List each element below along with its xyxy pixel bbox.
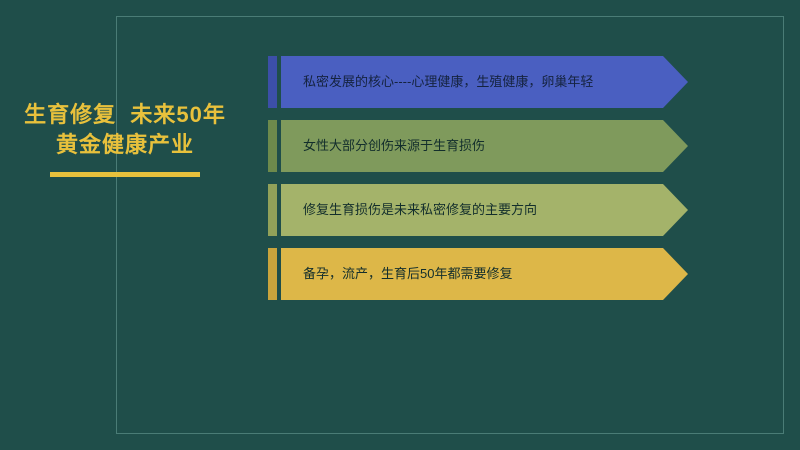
arrow-cap [268,248,277,300]
arrow-body: 备孕，流产，生育后50年都需要修复 [281,248,688,300]
arrow-body: 修复生育损伤是未来私密修复的主要方向 [281,184,688,236]
arrow-cap-shape [268,248,277,300]
arrow-cap [268,184,277,236]
slide-canvas: 生育修复 未来50年黄金健康产业 私密发展的核心----心理健康，生殖健康，卵巢… [0,0,800,450]
arrow-body: 私密发展的核心----心理健康，生殖健康，卵巢年轻 [281,56,688,108]
title-block: 生育修复 未来50年黄金健康产业 [20,100,230,177]
arrow-label: 私密发展的核心----心理健康，生殖健康，卵巢年轻 [303,56,593,108]
arrow-cap-shape [268,120,277,172]
arrow-list: 私密发展的核心----心理健康，生殖健康，卵巢年轻 女性大部分创伤来源于生育损伤 [268,56,688,312]
arrow-label: 备孕，流产，生育后50年都需要修复 [303,248,512,300]
arrow-body: 女性大部分创伤来源于生育损伤 [281,120,688,172]
arrow-cap [268,56,277,108]
arrow-cap-shape [268,56,277,108]
page-title: 生育修复 未来50年黄金健康产业 [20,100,230,160]
title-underline [50,172,200,177]
list-item: 私密发展的核心----心理健康，生殖健康，卵巢年轻 [268,56,688,108]
arrow-cap-shape [268,184,277,236]
arrow-cap [268,120,277,172]
list-item: 女性大部分创伤来源于生育损伤 [268,120,688,172]
arrow-label: 修复生育损伤是未来私密修复的主要方向 [303,184,537,236]
list-item: 备孕，流产，生育后50年都需要修复 [268,248,688,300]
arrow-label: 女性大部分创伤来源于生育损伤 [303,120,485,172]
list-item: 修复生育损伤是未来私密修复的主要方向 [268,184,688,236]
